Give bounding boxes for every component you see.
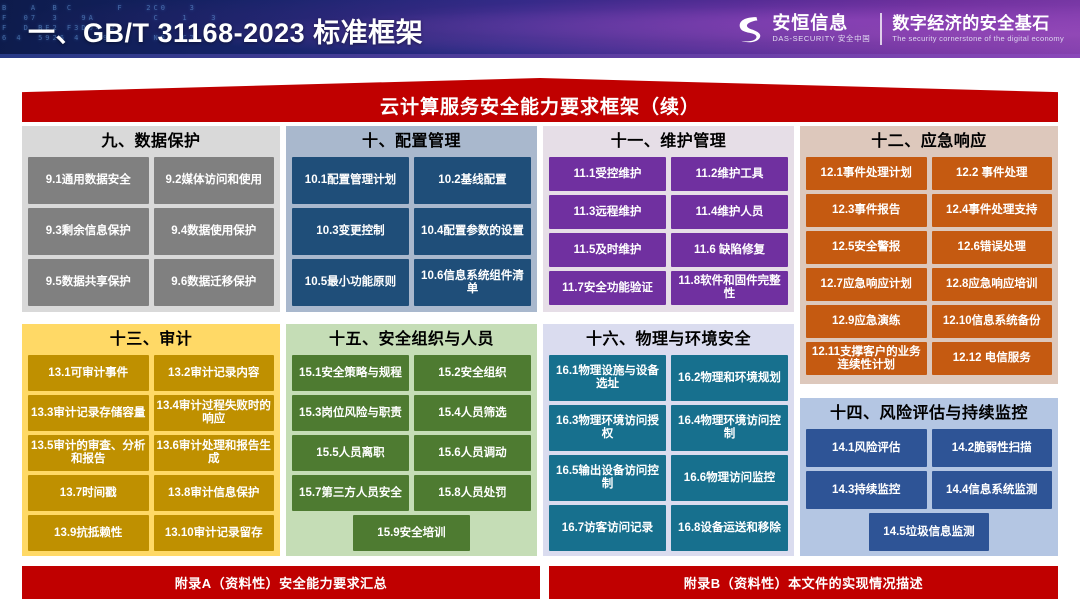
capability-cell[interactable]: 14.3持续监控 xyxy=(806,471,927,509)
capability-cell[interactable]: 15.5人员离职 xyxy=(292,435,409,471)
capability-cell[interactable]: 11.7安全功能验证 xyxy=(549,271,666,305)
capability-cell[interactable]: 14.5垃圾信息监测 xyxy=(869,513,990,551)
capability-cell[interactable]: 13.5审计的审查、分析和报告 xyxy=(28,435,149,471)
capability-cell[interactable]: 12.8应急响应培训 xyxy=(932,268,1053,301)
capability-cell[interactable]: 10.3变更控制 xyxy=(292,208,409,255)
capability-cell[interactable]: 16.8设备运送和移除 xyxy=(671,505,788,551)
capability-cell[interactable]: 15.2安全组织 xyxy=(414,355,531,391)
panel-audit: 十三、审计13.1可审计事件13.2审计记录内容13.3审计记录存储容量13.4… xyxy=(22,324,280,556)
capability-cell[interactable]: 10.2基线配置 xyxy=(414,157,531,204)
banner-title: 云计算服务安全能力要求框架（续） xyxy=(0,92,1080,119)
brand-slogan-cn: 数字经济的安全基石 xyxy=(892,14,1064,33)
capability-cell[interactable]: 13.6审计处理和报告生成 xyxy=(154,435,275,471)
capability-cell[interactable]: 11.1受控维护 xyxy=(549,157,666,191)
brand-lockup: 安恒信息 DAS-SECURITY 安全中国 数字经济的安全基石 The sec… xyxy=(731,8,1064,50)
panel-grid-physical-environmental-security: 16.1物理设施与设备选址16.2物理和环境规划16.3物理环境访问授权16.4… xyxy=(549,355,788,551)
footer-appendix-a[interactable]: 附录A（资料性）安全能力要求汇总 xyxy=(22,566,540,599)
capability-cell[interactable]: 15.1安全策略与规程 xyxy=(292,355,409,391)
page-title: 一、GB/T 31168-2023 标准框架 xyxy=(28,11,423,50)
capability-cell[interactable]: 15.4人员筛选 xyxy=(414,395,531,431)
capability-cell[interactable]: 15.9安全培训 xyxy=(353,515,470,551)
panel-security-organization-personnel: 十五、安全组织与人员15.1安全策略与规程15.2安全组织15.3岗位风险与职责… xyxy=(286,324,537,556)
das-security-logo-icon xyxy=(731,12,765,46)
brand-slogan-en: The security cornerstone of the digital … xyxy=(892,33,1064,44)
capability-cell[interactable]: 13.8审计信息保护 xyxy=(154,475,275,511)
capability-cell[interactable]: 9.3剩余信息保护 xyxy=(28,208,149,255)
capability-cell[interactable]: 16.6物理访问监控 xyxy=(671,455,788,501)
capability-cell[interactable]: 10.4配置参数的设置 xyxy=(414,208,531,255)
capability-cell[interactable]: 12.4事件处理支持 xyxy=(932,194,1053,227)
brand-name-en: DAS-SECURITY 安全中国 xyxy=(772,33,870,44)
capability-cell[interactable]: 12.12 电信服务 xyxy=(932,342,1053,375)
capability-cell[interactable]: 14.1风险评估 xyxy=(806,429,927,467)
capability-cell[interactable]: 16.4物理环境访问控制 xyxy=(671,405,788,451)
capability-cell[interactable]: 14.4信息系统监测 xyxy=(932,471,1053,509)
capability-cell[interactable]: 11.8软件和固件完整性 xyxy=(671,271,788,305)
slide-header: B A B C F 2C0 3 F 07 3 9A C 1 3 F D BE2 … xyxy=(0,0,1080,58)
capability-cell[interactable]: 12.5安全警报 xyxy=(806,231,927,264)
footer-appendix-b[interactable]: 附录B（资料性）本文件的实现情况描述 xyxy=(549,566,1058,599)
panel-configuration-management: 十、配置管理10.1配置管理计划10.2基线配置10.3变更控制10.4配置参数… xyxy=(286,126,537,312)
capability-cell[interactable]: 16.3物理环境访问授权 xyxy=(549,405,666,451)
panel-grid-configuration-management: 10.1配置管理计划10.2基线配置10.3变更控制10.4配置参数的设置10.… xyxy=(292,157,531,306)
panel-title-risk-assessment-monitoring: 十四、风险评估与持续监控 xyxy=(806,403,1052,425)
capability-cell[interactable]: 11.4维护人员 xyxy=(671,195,788,229)
capability-cell[interactable]: 12.11支撑客户的业务连续性计划 xyxy=(806,342,927,375)
capability-cell[interactable]: 16.2物理和环境规划 xyxy=(671,355,788,401)
capability-cell[interactable]: 13.1可审计事件 xyxy=(28,355,149,391)
capability-cell[interactable]: 13.7时间戳 xyxy=(28,475,149,511)
capability-cell[interactable]: 13.10审计记录留存 xyxy=(154,515,275,551)
panel-grid-risk-assessment-monitoring: 14.1风险评估14.2脆弱性扫描14.3持续监控14.4信息系统监测14.5垃… xyxy=(806,429,1052,551)
capability-cell[interactable]: 15.6人员调动 xyxy=(414,435,531,471)
capability-cell[interactable]: 16.7访客访问记录 xyxy=(549,505,666,551)
capability-cell[interactable]: 11.6 缺陷修复 xyxy=(671,233,788,267)
capability-cell[interactable]: 9.1通用数据安全 xyxy=(28,157,149,204)
capability-cell[interactable]: 10.1配置管理计划 xyxy=(292,157,409,204)
panel-title-emergency-response: 十二、应急响应 xyxy=(806,131,1052,153)
capability-cell[interactable]: 13.9抗抵赖性 xyxy=(28,515,149,551)
capability-cell[interactable]: 12.3事件报告 xyxy=(806,194,927,227)
capability-cell[interactable]: 10.6信息系统组件清单 xyxy=(414,259,531,306)
panel-risk-assessment-monitoring: 十四、风险评估与持续监控14.1风险评估14.2脆弱性扫描14.3持续监控14.… xyxy=(800,398,1058,556)
brand-name-cn: 安恒信息 xyxy=(772,14,870,33)
capability-cell[interactable]: 12.9应急演练 xyxy=(806,305,927,338)
capability-cell[interactable]: 12.7应急响应计划 xyxy=(806,268,927,301)
capability-cell[interactable]: 9.6数据迁移保护 xyxy=(154,259,275,306)
capability-cell[interactable]: 16.5输出设备访问控制 xyxy=(549,455,666,501)
panel-grid-data-protection: 9.1通用数据安全9.2媒体访问和使用9.3剩余信息保护9.4数据使用保护9.5… xyxy=(28,157,274,306)
capability-cell[interactable]: 16.1物理设施与设备选址 xyxy=(549,355,666,401)
capability-cell[interactable]: 12.6错误处理 xyxy=(932,231,1053,264)
panel-title-security-organization-personnel: 十五、安全组织与人员 xyxy=(292,329,531,351)
panel-title-maintenance-management: 十一、维护管理 xyxy=(549,131,788,153)
capability-cell[interactable]: 11.3远程维护 xyxy=(549,195,666,229)
panel-maintenance-management: 十一、维护管理11.1受控维护11.2维护工具11.3远程维护11.4维护人员1… xyxy=(543,126,794,312)
capability-cell[interactable]: 9.2媒体访问和使用 xyxy=(154,157,275,204)
slide-root: B A B C F 2C0 3 F 07 3 9A C 1 3 F D BE2 … xyxy=(0,0,1080,604)
capability-cell[interactable]: 15.7第三方人员安全 xyxy=(292,475,409,511)
framework-banner: 云计算服务安全能力要求框架（续） xyxy=(0,78,1080,122)
panel-title-audit: 十三、审计 xyxy=(28,329,274,351)
panel-grid-maintenance-management: 11.1受控维护11.2维护工具11.3远程维护11.4维护人员11.5及时维护… xyxy=(549,157,788,305)
panel-title-configuration-management: 十、配置管理 xyxy=(292,131,531,153)
panel-title-data-protection: 九、数据保护 xyxy=(28,131,274,153)
header-accent-line xyxy=(0,54,1080,58)
panel-emergency-response: 十二、应急响应12.1事件处理计划12.2 事件处理12.3事件报告12.4事件… xyxy=(800,126,1058,384)
capability-cell[interactable]: 10.5最小功能原则 xyxy=(292,259,409,306)
capability-cell[interactable]: 15.8人员处罚 xyxy=(414,475,531,511)
capability-cell[interactable]: 9.5数据共享保护 xyxy=(28,259,149,306)
panel-title-physical-environmental-security: 十六、物理与环境安全 xyxy=(549,329,788,351)
panel-grid-security-organization-personnel: 15.1安全策略与规程15.2安全组织15.3岗位风险与职责15.4人员筛选15… xyxy=(292,355,531,551)
panel-grid-audit: 13.1可审计事件13.2审计记录内容13.3审计记录存储容量13.4审计过程失… xyxy=(28,355,274,551)
capability-cell[interactable]: 9.4数据使用保护 xyxy=(154,208,275,255)
capability-cell[interactable]: 12.10信息系统备份 xyxy=(932,305,1053,338)
panel-physical-environmental-security: 十六、物理与环境安全16.1物理设施与设备选址16.2物理和环境规划16.3物理… xyxy=(543,324,794,556)
capability-cell[interactable]: 13.3审计记录存储容量 xyxy=(28,395,149,431)
capability-cell[interactable]: 11.2维护工具 xyxy=(671,157,788,191)
panel-data-protection: 九、数据保护9.1通用数据安全9.2媒体访问和使用9.3剩余信息保护9.4数据使… xyxy=(22,126,280,312)
capability-cell[interactable]: 11.5及时维护 xyxy=(549,233,666,267)
capability-cell[interactable]: 15.3岗位风险与职责 xyxy=(292,395,409,431)
brand-divider xyxy=(880,13,882,45)
panel-grid-emergency-response: 12.1事件处理计划12.2 事件处理12.3事件报告12.4事件处理支持12.… xyxy=(806,157,1052,375)
capability-cell[interactable]: 13.4审计过程失败时的响应 xyxy=(154,395,275,431)
capability-cell[interactable]: 12.2 事件处理 xyxy=(932,157,1053,190)
capability-cell[interactable]: 14.2脆弱性扫描 xyxy=(932,429,1053,467)
capability-cell[interactable]: 12.1事件处理计划 xyxy=(806,157,927,190)
capability-cell[interactable]: 13.2审计记录内容 xyxy=(154,355,275,391)
